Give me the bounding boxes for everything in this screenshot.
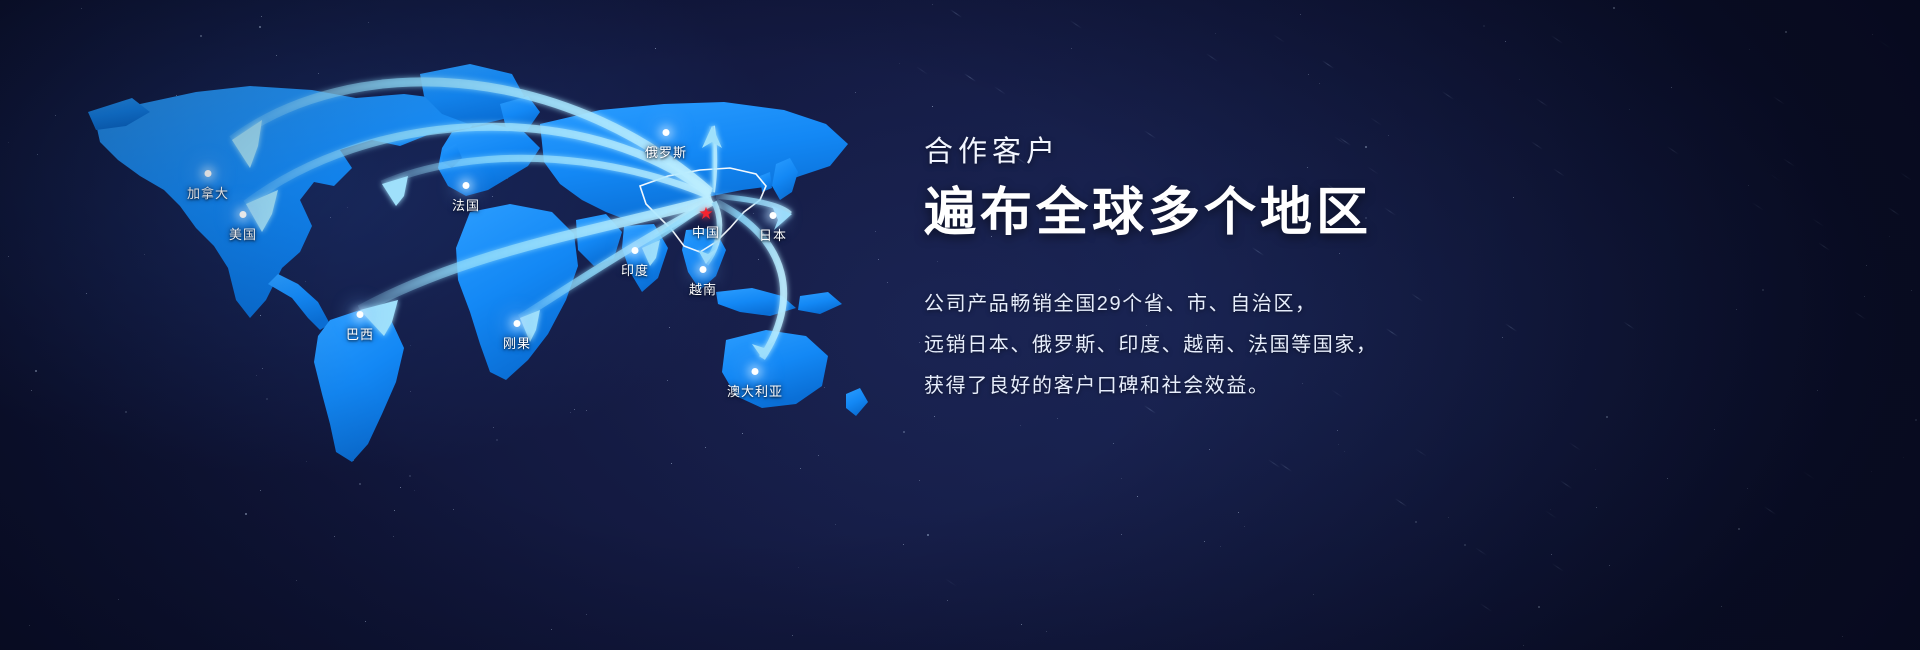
star-speck <box>1338 444 1339 445</box>
star-streak <box>1069 20 1081 29</box>
star-streak <box>1773 97 1785 106</box>
star-speck <box>1889 236 1890 237</box>
star-speck <box>1785 31 1787 33</box>
star-speck <box>1313 594 1314 595</box>
star-speck <box>1215 33 1216 34</box>
page-title: 遍布全球多个地区 <box>924 184 1824 242</box>
star-speck <box>1220 546 1221 547</box>
star-speck <box>1448 517 1449 518</box>
star-speck <box>1538 606 1540 608</box>
star-streak <box>1536 98 1548 107</box>
star-speck <box>1596 507 1597 508</box>
star-speck <box>1613 7 1615 9</box>
star-speck <box>1738 528 1740 530</box>
star-streak <box>1322 60 1334 69</box>
world-map-svg <box>0 0 960 650</box>
star-streak <box>964 73 976 82</box>
text-panel: 合作客户 遍布全球多个地区 公司产品畅销全国29个省、市、自治区， 远销日本、俄… <box>924 128 1824 407</box>
star-speck <box>1842 636 1843 637</box>
star-speck <box>1721 606 1722 607</box>
star-speck <box>1483 25 1485 27</box>
star-speck <box>1747 488 1748 489</box>
star-speck <box>1464 544 1466 546</box>
star-streak <box>1552 563 1564 572</box>
star-speck <box>1523 645 1524 646</box>
star-speck <box>1519 79 1520 80</box>
star-speck <box>1903 457 1904 458</box>
description-line: 公司产品畅销全国29个省、市、自治区， <box>924 284 1824 325</box>
star-streak <box>1272 34 1284 43</box>
star-speck <box>1551 554 1552 555</box>
star-streak <box>1879 41 1891 50</box>
global-clients-banner: 加拿大美国巴西法国刚果俄罗斯印度★中国日本越南澳大利亚 合作客户 遍布全球多个地… <box>0 0 1920 650</box>
star-streak <box>1442 91 1454 100</box>
star-speck <box>1238 512 1239 513</box>
star-streak <box>1899 172 1911 181</box>
star-streak <box>1551 35 1563 44</box>
star-speck <box>1113 443 1114 444</box>
star-speck <box>1872 34 1873 35</box>
star-speck <box>1595 469 1596 470</box>
star-speck <box>1864 296 1865 297</box>
star-speck <box>1204 541 1205 542</box>
star-speck <box>1671 87 1672 88</box>
star-speck <box>1606 416 1608 418</box>
star-speck <box>1344 451 1345 452</box>
star-streak <box>1545 510 1557 519</box>
star-streak <box>1395 498 1407 507</box>
star-speck <box>1057 418 1058 419</box>
star-speck <box>1505 41 1506 42</box>
star-speck <box>1871 471 1872 472</box>
star-streak <box>1206 54 1218 63</box>
star-speck <box>1319 83 1320 84</box>
star-streak <box>1764 506 1776 515</box>
star-speck <box>1866 265 1867 266</box>
star-streak <box>1569 442 1581 451</box>
star-speck <box>1550 509 1551 510</box>
description-block: 公司产品畅销全国29个省、市、自治区， 远销日本、俄罗斯、印度、越南、法国等国家… <box>924 284 1824 407</box>
star-streak <box>1803 471 1815 480</box>
star-speck <box>1209 449 1210 450</box>
description-line: 远销日本、俄罗斯、印度、越南、法国等国家， <box>924 325 1824 366</box>
star-speck <box>1121 534 1122 535</box>
star-streak <box>1414 448 1426 457</box>
star-speck <box>1300 14 1301 15</box>
star-speck <box>1071 48 1072 49</box>
star-speck <box>1337 430 1338 431</box>
star-speck <box>1415 521 1417 523</box>
eyebrow-heading: 合作客户 <box>924 128 1824 170</box>
star-speck <box>1021 624 1022 625</box>
world-map: 加拿大美国巴西法国刚果俄罗斯印度★中国日本越南澳大利亚 <box>0 0 960 650</box>
star-speck <box>1046 631 1047 632</box>
star-speck <box>1911 290 1912 291</box>
star-speck <box>1137 496 1138 497</box>
star-speck <box>1308 74 1309 75</box>
star-streak <box>1370 118 1382 127</box>
star-streak <box>1480 603 1492 612</box>
star-speck <box>1629 109 1630 110</box>
star-speck <box>1667 478 1668 479</box>
star-streak <box>1854 311 1866 320</box>
star-speck <box>1609 565 1610 566</box>
star-speck <box>1020 425 1021 426</box>
star-speck <box>1121 478 1122 479</box>
star-streak <box>1475 547 1487 556</box>
star-streak <box>994 86 1006 95</box>
description-line: 获得了良好的客户口碑和社会效益。 <box>924 366 1824 407</box>
star-speck <box>1749 49 1750 50</box>
star-streak <box>1280 464 1292 473</box>
star-streak <box>1268 460 1280 469</box>
star-speck <box>1244 526 1245 527</box>
star-streak <box>1888 207 1900 216</box>
star-speck <box>1915 419 1917 421</box>
star-streak <box>1559 480 1571 489</box>
star-speck <box>1714 429 1715 430</box>
